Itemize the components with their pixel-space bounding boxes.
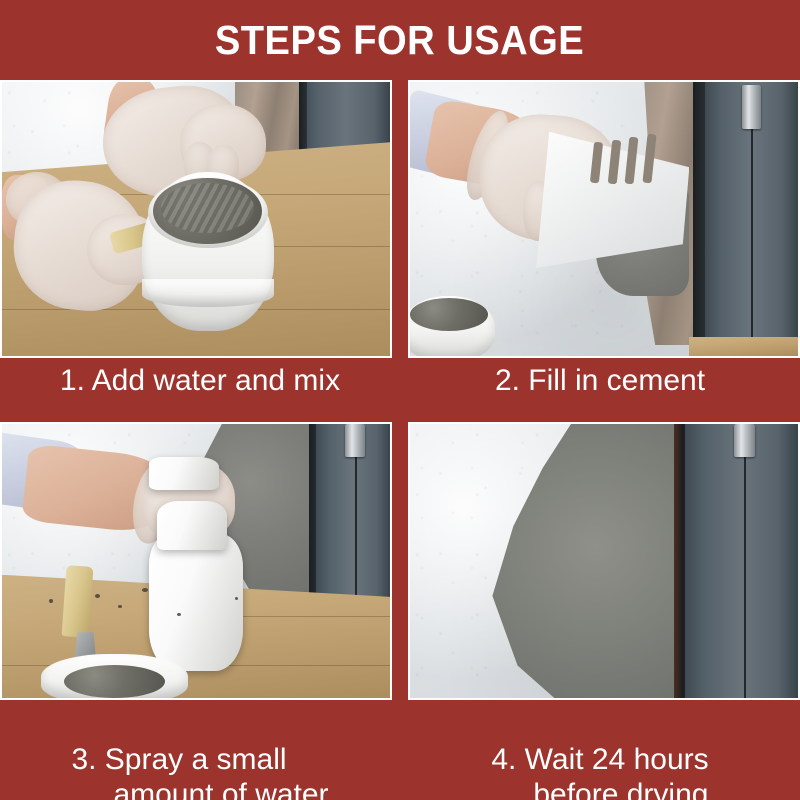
poster: STEPS FOR USAGE bbox=[0, 0, 800, 800]
step-2-photo bbox=[408, 80, 800, 358]
photo-add-water-and-mix bbox=[2, 82, 390, 356]
step-3-photo bbox=[0, 422, 392, 700]
step-3-caption-text: 3. Spray a small amount of water bbox=[71, 708, 328, 800]
step-4-caption-line-1: 4. Wait 24 hours bbox=[491, 743, 708, 776]
page-title: STEPS FOR USAGE bbox=[215, 20, 584, 61]
step-3-caption: 3. Spray a small amount of water bbox=[0, 700, 400, 800]
photo-fill-in-cement bbox=[410, 82, 798, 356]
step-4-caption-text: 4. Wait 24 hours before drying bbox=[491, 708, 708, 800]
photo-row-2 bbox=[0, 422, 800, 700]
photo-row-1 bbox=[0, 80, 800, 358]
step-2-caption: 2. Fill in cement bbox=[400, 358, 800, 422]
step-2-caption-text: 2. Fill in cement bbox=[495, 364, 705, 399]
caption-row-2: 3. Spray a small amount of water 4. Wait… bbox=[0, 700, 800, 800]
photo-spray-small-amount-of-water bbox=[2, 424, 390, 698]
step-1-photo bbox=[0, 80, 392, 358]
step-4-photo bbox=[408, 422, 800, 700]
step-4-caption: 4. Wait 24 hours before drying bbox=[400, 700, 800, 800]
step-3-caption-line-2: amount of water bbox=[71, 778, 328, 800]
caption-row-1: 1. Add water and mix 2. Fill in cement bbox=[0, 358, 800, 422]
title-bar: STEPS FOR USAGE bbox=[0, 0, 800, 80]
step-4-caption-line-2: before drying bbox=[491, 778, 708, 800]
photo-wait-24-hours-before-drying bbox=[410, 424, 798, 698]
step-3-caption-line-1: 3. Spray a small bbox=[71, 743, 286, 776]
step-1-caption-text: 1. Add water and mix bbox=[60, 364, 340, 399]
step-1-caption: 1. Add water and mix bbox=[0, 358, 400, 422]
